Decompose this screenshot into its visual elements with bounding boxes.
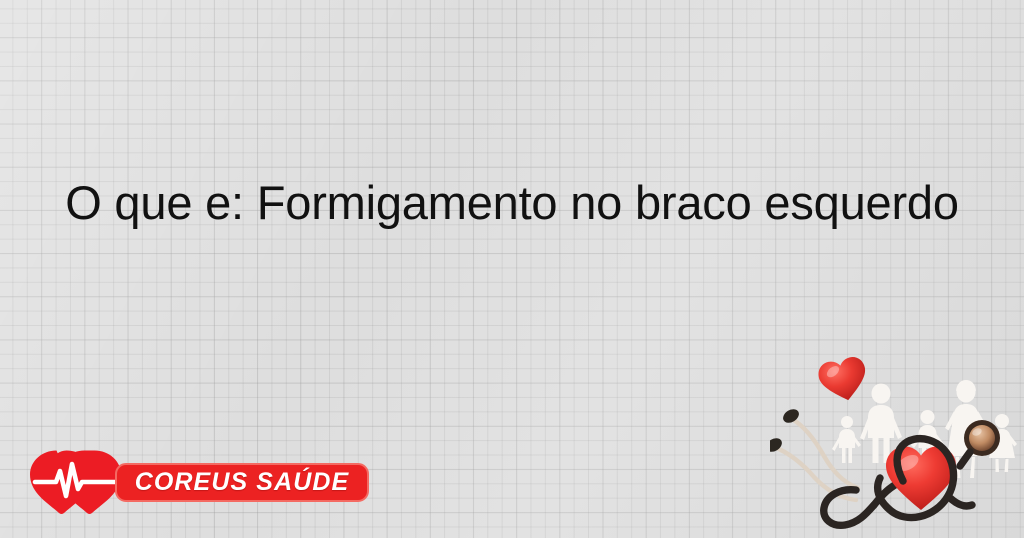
brand-logo: COREUS SAÚDE [26, 447, 351, 517]
image-canvas: O que e: Formigamento no braco esquerdo … [0, 0, 1024, 538]
brand-name-label: COREUS SAÚDE [135, 470, 350, 495]
stethoscope-tube-icon [824, 481, 903, 525]
brand-name-badge: COREUS SAÚDE [115, 463, 369, 502]
page-title: O que e: Formigamento no braco esquerdo [62, 172, 962, 233]
heart-pulse-icon [26, 449, 122, 515]
health-care-illustration [770, 348, 1024, 538]
small-heart-icon [816, 355, 871, 405]
